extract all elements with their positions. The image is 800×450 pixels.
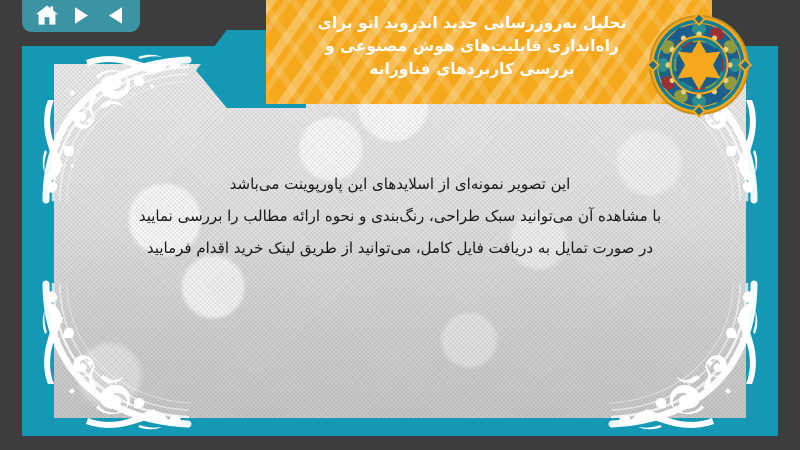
previous-slide-button[interactable] bbox=[102, 3, 128, 27]
triangle-right-icon bbox=[73, 6, 90, 25]
slide-viewer: این تصویر نمونه‌ای از اسلایدهای این پاور… bbox=[0, 0, 800, 450]
title-line: تحلیل به‌روزرسانی جدید اندروید اتو برای bbox=[318, 12, 627, 34]
body-line: در صورت تمایل به دریافت فایل کامل، می‌تو… bbox=[147, 236, 653, 262]
slide-body-text: این تصویر نمونه‌ای از اسلایدهای این پاور… bbox=[22, 172, 778, 261]
title-line: بررسی کاربردهای فناورانه bbox=[369, 58, 574, 80]
home-button[interactable] bbox=[34, 3, 60, 27]
next-slide-button[interactable] bbox=[68, 3, 94, 27]
slide-title-banner: تحلیل به‌روزرسانی جدید اندروید اتو برای … bbox=[232, 0, 712, 108]
body-line: با مشاهده آن می‌توانید سبک طراحی، رنگ‌بن… bbox=[139, 204, 661, 230]
page-title: تحلیل به‌روزرسانی جدید اندروید اتو برای … bbox=[232, 0, 712, 104]
body-line: این تصویر نمونه‌ای از اسلایدهای این پاور… bbox=[230, 172, 571, 198]
slide-navigation-bar bbox=[22, 0, 140, 32]
persian-medallion-ornament-icon bbox=[646, 12, 752, 118]
title-line: راه‌اندازی قابلیت‌های هوش مصنوعی و bbox=[325, 35, 619, 57]
home-icon bbox=[35, 4, 59, 26]
triangle-left-icon bbox=[107, 6, 124, 25]
